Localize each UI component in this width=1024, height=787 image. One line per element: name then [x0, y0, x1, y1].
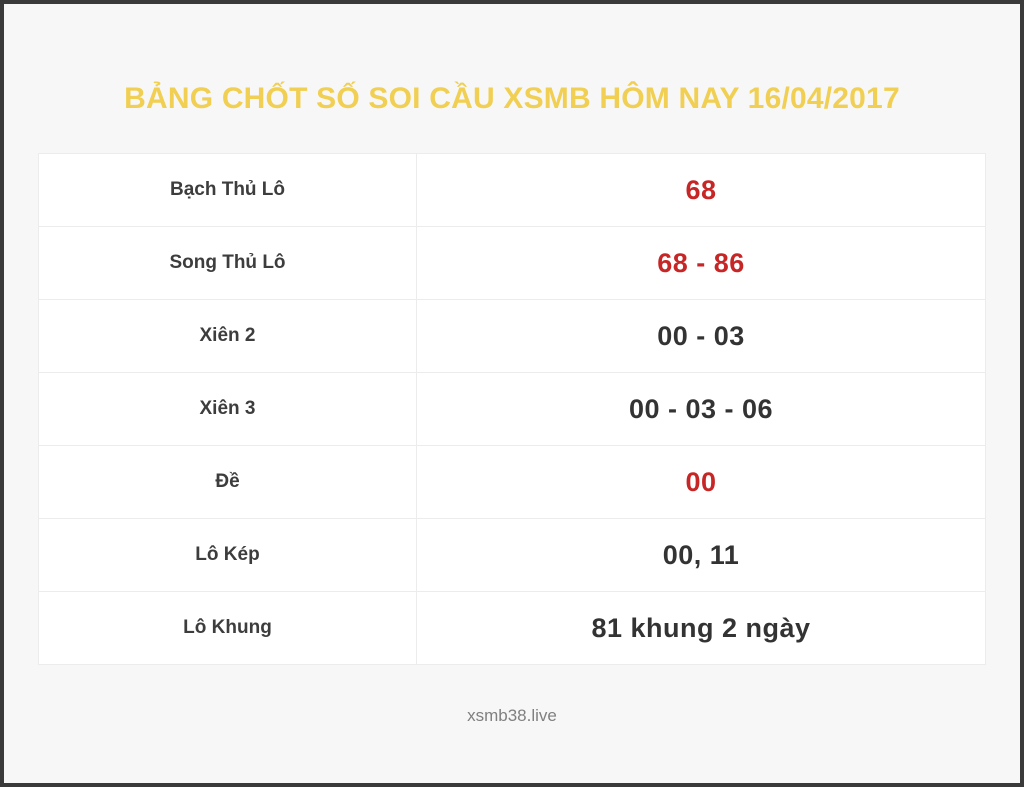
row-value-xien-3: 00 - 03 - 06 [417, 373, 986, 446]
table-row: Song Thủ Lô 68 - 86 [39, 227, 986, 300]
row-label-lo-kep: Lô Kép [39, 519, 417, 592]
table-row: Lô Kép 00, 11 [39, 519, 986, 592]
row-value-lo-khung: 81 khung 2 ngày [417, 592, 986, 665]
row-value-bach-thu-lo: 68 [417, 154, 986, 227]
row-value-de: 00 [417, 446, 986, 519]
page-title: BẢNG CHỐT SỐ SOI CẦU XSMB HÔM NAY 16/04/… [4, 82, 1020, 116]
table-row: Xiên 3 00 - 03 - 06 [39, 373, 986, 446]
table-row: Bạch Thủ Lô 68 [39, 154, 986, 227]
lottery-prediction-table: Bạch Thủ Lô 68 Song Thủ Lô 68 - 86 Xiên … [38, 153, 986, 665]
row-label-xien-2: Xiên 2 [39, 300, 417, 373]
page-canvas: BẢNG CHỐT SỐ SOI CẦU XSMB HÔM NAY 16/04/… [4, 4, 1020, 783]
row-label-song-thu-lo: Song Thủ Lô [39, 227, 417, 300]
table-body: Bạch Thủ Lô 68 Song Thủ Lô 68 - 86 Xiên … [39, 154, 986, 665]
row-label-de: Đề [39, 446, 417, 519]
row-value-xien-2: 00 - 03 [417, 300, 986, 373]
table-row: Xiên 2 00 - 03 [39, 300, 986, 373]
table-row: Lô Khung 81 khung 2 ngày [39, 592, 986, 665]
row-label-bach-thu-lo: Bạch Thủ Lô [39, 154, 417, 227]
site-watermark: xsmb38.live [4, 706, 1020, 726]
table-row: Đề 00 [39, 446, 986, 519]
row-value-lo-kep: 00, 11 [417, 519, 986, 592]
row-label-lo-khung: Lô Khung [39, 592, 417, 665]
row-label-xien-3: Xiên 3 [39, 373, 417, 446]
row-value-song-thu-lo: 68 - 86 [417, 227, 986, 300]
